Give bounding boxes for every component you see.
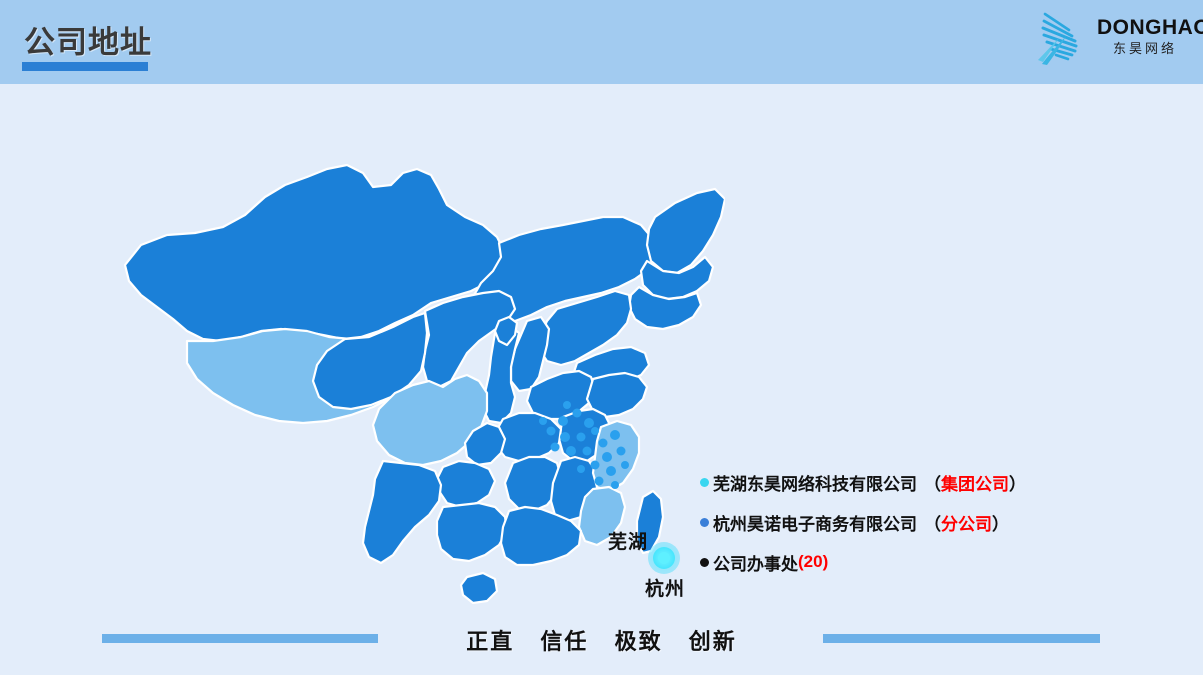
map-label-hangzhou: 杭州: [645, 574, 685, 601]
map-label-wuhu: 芜湖: [608, 527, 648, 554]
footer-slogan: 正直 信任 极致 创新: [0, 624, 1203, 656]
china-map: 芜湖 杭州: [95, 125, 725, 605]
slogan-word-3: 极致: [615, 629, 663, 654]
legend-item-branch-company: 杭州昊诺电子商务有限公司 （ 分公司 ）: [700, 502, 1120, 542]
slide-canvas: 公司地址 DONGHAO 东昊网络: [0, 0, 1203, 675]
logo-name: DONGHAO: [1097, 16, 1193, 40]
slogan-word-2: 信任: [540, 629, 588, 654]
wuhu-headquarters-marker: [658, 552, 670, 564]
legend-item-offices: 公司办事处 (20): [700, 542, 1120, 582]
legend-paren-open-1: （: [924, 510, 941, 535]
page-title: 公司地址: [24, 17, 152, 62]
province-guangxi: [437, 503, 507, 561]
company-logo: DONGHAO 东昊网络: [1033, 6, 1193, 72]
feather-wing-icon: [1035, 8, 1097, 70]
legend-dot-group-company: [700, 478, 709, 487]
legend-tag-branch-company: 分公司: [941, 510, 992, 535]
slogan-word-4: 创新: [689, 629, 737, 654]
legend-paren-close-0: ）: [1009, 470, 1026, 495]
title-underline-accent: [22, 62, 148, 71]
legend-paren-close-1: ）: [992, 510, 1009, 535]
province-guizhou: [437, 461, 495, 507]
province-heilongjiang: [647, 189, 725, 273]
legend-count-offices: (20): [798, 552, 828, 572]
legend-label-branch-company: 杭州昊诺电子商务有限公司: [713, 510, 917, 535]
legend-item-group-company: 芜湖东昊网络科技有限公司 （ 集团公司 ）: [700, 462, 1120, 502]
legend-paren-open-0: （: [924, 470, 941, 495]
logo-text-block: DONGHAO 东昊网络: [1097, 16, 1193, 58]
province-yunnan: [363, 461, 441, 563]
logo-subtitle: 东昊网络: [1097, 40, 1193, 58]
legend-label-offices: 公司办事处: [713, 550, 798, 575]
legend-dot-offices: [700, 558, 709, 567]
province-hainan: [461, 573, 497, 603]
legend-label-group-company: 芜湖东昊网络科技有限公司: [713, 470, 917, 495]
header-band: [0, 0, 1203, 84]
legend-tag-group-company: 集团公司: [941, 470, 1009, 495]
legend-dot-branch-company: [700, 518, 709, 527]
slogan-word-1: 正直: [466, 629, 514, 654]
legend-list: 芜湖东昊网络科技有限公司 （ 集团公司 ） 杭州昊诺电子商务有限公司 （ 分公司…: [700, 462, 1120, 582]
